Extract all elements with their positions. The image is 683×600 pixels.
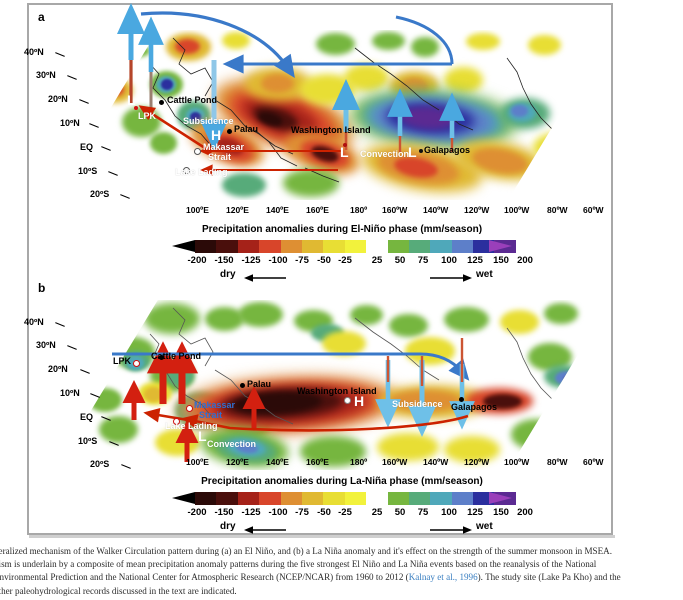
- caption-reference-link[interactable]: Kalnay et al., 1996: [409, 572, 478, 582]
- cb-b-tick-5: -50: [317, 507, 331, 518]
- cb-b-tick-7: 25: [372, 507, 383, 518]
- colorbar-la-nina: Precipitation anomalies during La-Niña p…: [172, 476, 512, 534]
- panel-b-lon-6: 140ºW: [423, 457, 448, 467]
- panel-a-label-washington-island: Washington Island: [291, 126, 371, 135]
- colorbar-la-nina-bar: [195, 492, 516, 505]
- colorbar-la-nina-left-cap: [172, 492, 195, 504]
- panel-a-lat-10s: 10ºS: [78, 166, 97, 176]
- panel-b-lat-10s: 10ºS: [78, 436, 97, 446]
- cb-a-tick-3: -100: [268, 255, 287, 266]
- panel-b-low-maritime: L: [198, 429, 207, 443]
- cb-b-tick-1: -150: [214, 507, 233, 518]
- caption-line-3b: ). The study site (Lake Pa Kho) and the: [478, 572, 621, 582]
- panel-b-lat-20n: 20ºN: [48, 364, 68, 374]
- panel-a-label-subsidence: Subsidence: [183, 117, 234, 126]
- panel-b-lon-5: 160ºW: [382, 457, 407, 467]
- dry-arrow-icon-b: [244, 525, 286, 535]
- colorbar-el-nino-title: Precipitation anomalies during El-Niño p…: [202, 224, 482, 235]
- cb-b-tick-4: -75: [295, 507, 309, 518]
- cb-a-tick-10: 100: [441, 255, 457, 266]
- cb-a-tick-6: -25: [338, 255, 352, 266]
- panel-b-label-lake-lading: Lake Lading: [165, 422, 218, 431]
- panel-a-low-lpk: L: [127, 93, 136, 107]
- panel-b-lon-0: 100ºE: [186, 457, 209, 467]
- panel-b-site-washington-island-marker: [344, 397, 351, 404]
- panel-a-label-cattle-pond: Cattle Pond: [167, 96, 217, 105]
- figure-root: a: [0, 0, 683, 600]
- panel-b-lon-8: 100ºW: [504, 457, 529, 467]
- panel-b-label-subsidence: Subsidence: [392, 400, 443, 409]
- cb-a-tick-2: -125: [241, 255, 260, 266]
- panel-a-lon-0: 100ºE: [186, 205, 209, 215]
- panel-a-label-lpk: LPK: [138, 112, 156, 121]
- panel-a-lat-eq: EQ: [80, 142, 93, 152]
- panel-a-lon-2: 140ºE: [266, 205, 289, 215]
- cb-b-tick-10: 100: [441, 507, 457, 518]
- cb-a-tick-7: 25: [372, 255, 383, 266]
- panel-b-label-palau: Palau: [247, 380, 271, 389]
- colorbar-el-nino-dry-label: dry: [220, 269, 236, 280]
- panel-b-high-central-pacific: H: [354, 394, 364, 408]
- cb-b-tick-2: -125: [241, 507, 260, 518]
- panel-b-lon-4: 180º: [350, 457, 367, 467]
- panel-a-low-central-pacific: L: [340, 145, 349, 159]
- panel-a-high-maritime: H: [211, 128, 221, 142]
- cb-a-tick-8: 50: [395, 255, 406, 266]
- panel-a-label-convection: Convection: [360, 150, 409, 159]
- colorbar-la-nina-wet-label: wet: [476, 521, 493, 532]
- caption-line-3: Environmental Prediction and the Nationa…: [0, 571, 654, 584]
- panel-b-label-cattle-pond: Cattle Pond: [151, 352, 201, 361]
- cb-a-tick-12: 150: [493, 255, 509, 266]
- panel-a-label-strait: Strait: [208, 153, 231, 162]
- cb-b-tick-8: 50: [395, 507, 406, 518]
- cb-b-tick-13: 200: [517, 507, 533, 518]
- cb-b-tick-12: 150: [493, 507, 509, 518]
- panel-b-site-makassar-marker: [186, 405, 193, 412]
- panel-a-lon-3: 160ºE: [306, 205, 329, 215]
- panel-a-lon-5: 160ºW: [382, 205, 407, 215]
- wet-arrow-icon-a: [430, 273, 472, 283]
- cb-a-tick-5: -50: [317, 255, 331, 266]
- cb-a-tick-4: -75: [295, 255, 309, 266]
- panel-b-lat-40n: 40ºN: [24, 317, 44, 327]
- panel-a-label-galapagos: Galapagos: [424, 146, 470, 155]
- colorbar-el-nino-left-cap: [172, 240, 195, 252]
- panel-a-lat-20s: 20ºS: [90, 189, 109, 199]
- panel-b-coastlines: [55, 300, 611, 470]
- cb-a-tick-1: -150: [214, 255, 233, 266]
- panel-b-site-palau-marker: [240, 383, 245, 388]
- panel-a-lon-4: 180º: [350, 205, 367, 215]
- caption-line-4: other paleohydrological records discusse…: [0, 585, 654, 598]
- panel-a-lat-20n: 20ºN: [48, 94, 68, 104]
- panel-b-label-makassar: Makassar: [194, 401, 235, 410]
- panel-b-map-field: [55, 300, 611, 470]
- panel-b-lon-9: 80ºW: [547, 457, 568, 467]
- panel-b-lon-7: 120ºW: [464, 457, 489, 467]
- panel-a-lat-10n: 10ºN: [60, 118, 80, 128]
- colorbar-la-nina-right-cap: [489, 492, 512, 504]
- panel-a-lat-40n: 40ºN: [24, 47, 44, 57]
- panel-a-lon-1: 120ºE: [226, 205, 249, 215]
- cb-b-tick-0: -200: [187, 507, 206, 518]
- panel-a-low-galapagos: L: [408, 145, 417, 159]
- panel-b-lat-20s: 20ºS: [90, 459, 109, 469]
- panel-b-lon-1: 120ºE: [226, 457, 249, 467]
- dry-arrow-icon-a: [244, 273, 286, 283]
- figure-caption: neralized mechanism of the Walker Circul…: [0, 545, 654, 598]
- panel-b-lat-10n: 10ºN: [60, 388, 80, 398]
- panel-a-lon-7: 120ºW: [464, 205, 489, 215]
- panel-a-site-palau-marker: [227, 129, 232, 134]
- panel-b-lat-eq: EQ: [80, 412, 93, 422]
- panel-a-label-palau: Palau: [234, 125, 258, 134]
- panel-b-label-lpk: LPK: [113, 357, 131, 366]
- wet-arrow-icon-b: [430, 525, 472, 535]
- panel-b-label-convection: Convection: [207, 440, 256, 449]
- panel-b-map: [55, 300, 611, 470]
- panel-b-lon-10: 60ºW: [583, 457, 604, 467]
- panel-a-site-galapagos-marker: [419, 149, 423, 153]
- cb-b-tick-3: -100: [268, 507, 287, 518]
- figure-frame-shadow: [29, 535, 615, 538]
- colorbar-el-nino-wet-label: wet: [476, 269, 493, 280]
- panel-b-label-washington-island: Washington Island: [297, 387, 377, 396]
- cb-a-tick-0: -200: [187, 255, 206, 266]
- panel-a-lon-6: 140ºW: [423, 205, 448, 215]
- panel-a-site-cattle-pond-marker: [159, 100, 164, 105]
- colorbar-la-nina-dry-label: dry: [220, 521, 236, 532]
- panel-a-lon-8: 100ºW: [504, 205, 529, 215]
- cb-b-tick-9: 75: [418, 507, 429, 518]
- cb-a-tick-9: 75: [418, 255, 429, 266]
- panel-b-site-lpk-marker: [133, 360, 140, 367]
- panel-a-letter: a: [38, 10, 45, 24]
- colorbar-la-nina-title: Precipitation anomalies during La-Niña p…: [201, 476, 483, 487]
- colorbar-la-nina-ticks: -200 -150 -125 -100 -75 -50 -25 25 50 75…: [172, 507, 512, 520]
- panel-a-label-lake-lading: Lake Lading: [175, 168, 228, 177]
- panel-b-letter: b: [38, 281, 45, 295]
- colorbar-el-nino-bar: [195, 240, 516, 253]
- panel-b-label-strait: Strait: [199, 411, 222, 420]
- caption-line-1: neralized mechanism of the Walker Circul…: [0, 545, 654, 558]
- panel-a-site-makassar-marker: [194, 148, 201, 155]
- cb-a-tick-11: 125: [467, 255, 483, 266]
- panel-a-label-makassar: Makassar: [203, 143, 244, 152]
- panel-b-lat-30n: 30ºN: [36, 340, 56, 350]
- colorbar-el-nino-right-cap: [489, 240, 512, 252]
- caption-line-3a: Environmental Prediction and the Nationa…: [0, 572, 409, 582]
- panel-b-lon-3: 160ºE: [306, 457, 329, 467]
- panel-a-lat-30n: 30ºN: [36, 70, 56, 80]
- panel-a-lon-9: 80ºW: [547, 205, 568, 215]
- cb-a-tick-13: 200: [517, 255, 533, 266]
- cb-b-tick-6: -25: [338, 507, 352, 518]
- panel-b-lon-2: 140ºE: [266, 457, 289, 467]
- colorbar-el-nino: Precipitation anomalies during El-Niño p…: [172, 224, 512, 282]
- caption-line-2: nism is underlain by a composite of mean…: [0, 558, 654, 571]
- colorbar-el-nino-ticks: -200 -150 -125 -100 -75 -50 -25 25 50 75…: [172, 255, 512, 268]
- panel-b-label-galapagos: Galapagos: [451, 403, 497, 412]
- cb-b-tick-11: 125: [467, 507, 483, 518]
- panel-a-lon-10: 60ºW: [583, 205, 604, 215]
